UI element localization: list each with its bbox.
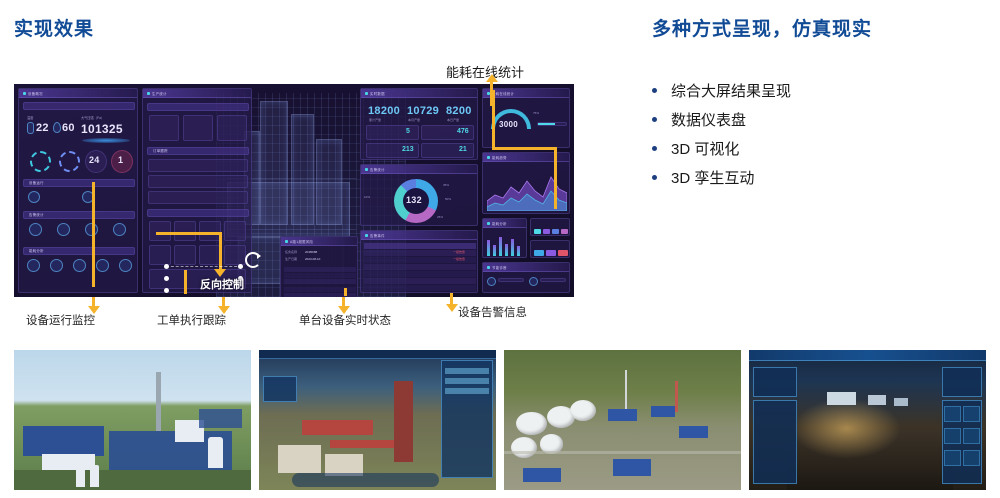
panel-device-overview: 设备概况 温度 大气压强（Pa） 22 60 101325 24 1 设备运行 bbox=[18, 88, 138, 293]
annotation-device-realtime: 单台设备实时状态 bbox=[299, 312, 391, 328]
panel-header: 节能诊断 bbox=[483, 263, 569, 272]
device-grid-cell[interactable] bbox=[174, 245, 196, 265]
list-item: 综合大屏结果呈现 bbox=[652, 76, 982, 105]
bullet-dot-icon bbox=[652, 88, 657, 93]
panel-alarm-distribution: 告警统计 132 35% 50% 25% 10% bbox=[360, 164, 478, 226]
pressure-underglow bbox=[82, 138, 130, 143]
legend-chip bbox=[543, 229, 550, 234]
panel-title: 能耗在线统计 bbox=[492, 91, 514, 96]
table-header-row bbox=[364, 243, 476, 249]
silo-shape bbox=[76, 465, 85, 487]
annotation-arrow-stem bbox=[219, 232, 222, 270]
gauge-value: 3000 bbox=[499, 120, 518, 129]
panel-subheader bbox=[147, 209, 249, 217]
panel-header: 告警统计 bbox=[361, 165, 477, 174]
bar bbox=[505, 244, 508, 256]
bar bbox=[511, 239, 514, 256]
twin-grid-cell[interactable] bbox=[963, 428, 980, 444]
photo-refinery-aerial bbox=[504, 350, 741, 490]
workorder-card[interactable] bbox=[217, 115, 247, 141]
device-grid-cell[interactable] bbox=[199, 245, 221, 265]
kpi-label: 累计产量 bbox=[369, 118, 381, 122]
panel-marker-icon bbox=[365, 234, 368, 237]
silo-shape bbox=[208, 437, 222, 468]
panel-diagnostics: 节能诊断 bbox=[482, 262, 570, 293]
energy-metric-icon bbox=[27, 259, 40, 272]
panel-title: 告警事件 bbox=[370, 233, 385, 238]
annotation-arrow-stem bbox=[492, 147, 557, 150]
energy-metric-icon bbox=[50, 259, 63, 272]
table-row bbox=[284, 273, 356, 278]
alarm-level-value: 一级告警 bbox=[453, 257, 465, 261]
annotation-arrow-stem bbox=[344, 288, 347, 296]
stat-cell-value: 476 bbox=[457, 128, 469, 135]
panel-energy-legend bbox=[530, 218, 570, 236]
refresh-icon[interactable] bbox=[245, 252, 261, 268]
process-unit bbox=[679, 426, 707, 439]
warehouse-glow bbox=[792, 398, 901, 460]
env-subpanel bbox=[23, 102, 135, 110]
panel-header: 告警事件 bbox=[361, 231, 477, 240]
popup-field-key: 任务名称 bbox=[285, 250, 297, 254]
gauge-ring-icon bbox=[59, 151, 80, 172]
stat-cell-value: 21 bbox=[459, 146, 467, 153]
twin-top-bar bbox=[259, 350, 496, 359]
alarm-metric-icon bbox=[57, 223, 70, 236]
hinge-dot bbox=[238, 264, 243, 269]
donut-slice-percent: 50% bbox=[445, 197, 451, 201]
bar bbox=[487, 240, 490, 256]
panel-header: 设备概况 bbox=[19, 89, 137, 98]
photo-digital-twin-cement-plant bbox=[259, 350, 496, 490]
twin-panel-row bbox=[445, 388, 489, 394]
stat-cell bbox=[366, 125, 419, 140]
window-shape bbox=[868, 395, 887, 405]
bar bbox=[499, 237, 502, 256]
alarm-level-value: 一级告警 bbox=[453, 250, 465, 254]
panel-marker-icon bbox=[365, 168, 368, 171]
twin-panel-row bbox=[445, 378, 489, 384]
panel-marker-icon bbox=[23, 92, 26, 95]
page-title-left: 实现效果 bbox=[14, 14, 94, 41]
device-grid-cell[interactable] bbox=[224, 221, 246, 241]
twin-grid-cell[interactable] bbox=[963, 450, 980, 466]
panel-marker-icon bbox=[487, 266, 490, 269]
twin-grid-cell[interactable] bbox=[944, 406, 961, 422]
list-item: 3D 可视化 bbox=[652, 134, 982, 163]
diagnostic-icon bbox=[487, 277, 496, 286]
energy-metric-icon bbox=[119, 259, 132, 272]
panel-title: 能耗趋势 bbox=[492, 155, 507, 160]
twin-left-card[interactable] bbox=[753, 367, 797, 397]
factory-roof bbox=[302, 420, 373, 435]
list-item-label: 数据仪表盘 bbox=[671, 109, 746, 130]
panel-marker-icon bbox=[147, 92, 150, 95]
kpi-label: 本日产量 bbox=[447, 118, 459, 122]
annotation-arrow-stem bbox=[554, 147, 557, 209]
dashboard-screenshot: 设备概况 温度 大气压强（Pa） 22 60 101325 24 1 设备运行 bbox=[14, 84, 574, 297]
list-item: 3D 孪生互动 bbox=[652, 163, 982, 192]
dashboard-canvas: 设备概况 温度 大气压强（Pa） 22 60 101325 24 1 设备运行 bbox=[14, 84, 574, 297]
table-row[interactable] bbox=[364, 264, 476, 270]
panel-energy-bars: 能耗分析 bbox=[482, 218, 527, 258]
panel-title: 设备运行 bbox=[29, 180, 44, 185]
bar bbox=[493, 245, 496, 256]
photo-indoor-digital-twin bbox=[749, 350, 986, 490]
twin-right-card[interactable] bbox=[942, 367, 982, 397]
device-grid-cell[interactable] bbox=[224, 245, 246, 265]
env-humidity-value: 60 bbox=[62, 122, 75, 134]
twin-grid-cell[interactable] bbox=[944, 450, 961, 466]
annotation-alarm-info: 设备告警信息 bbox=[458, 304, 527, 320]
popup-header: A路1超限风险 bbox=[281, 237, 357, 246]
table-row[interactable] bbox=[364, 278, 476, 284]
hinge-dot bbox=[164, 264, 169, 269]
panel-marker-icon bbox=[285, 240, 288, 243]
twin-left-list[interactable] bbox=[753, 400, 797, 484]
callout-arrow-stem bbox=[490, 80, 493, 106]
factory-building bbox=[278, 445, 321, 473]
panel-header: 生产统计 bbox=[143, 89, 251, 98]
panel-energy-online: 能耗在线统计 3000 75% bbox=[482, 88, 570, 148]
diagnostic-row[interactable] bbox=[540, 278, 566, 282]
workorder-row[interactable] bbox=[148, 159, 248, 172]
heat-chip bbox=[534, 250, 544, 256]
panel-title: 订单跟踪 bbox=[153, 148, 168, 153]
device-grid-cell[interactable] bbox=[174, 221, 196, 241]
flare-stack bbox=[625, 370, 627, 409]
thermometer-icon bbox=[27, 122, 34, 134]
annotation-arrow-stem bbox=[156, 232, 222, 235]
panel-header: 实时数据 bbox=[361, 89, 477, 98]
panel-alarm-events: 告警事件 一级告警 一级告警 bbox=[360, 230, 478, 293]
panel-header: 能耗在线统计 bbox=[483, 89, 569, 98]
count-b-value: 1 bbox=[118, 155, 123, 165]
panel-title: 告警统计 bbox=[29, 212, 44, 217]
workorder-card[interactable] bbox=[183, 115, 213, 141]
process-unit bbox=[613, 459, 651, 476]
panel-title: 告警统计 bbox=[370, 167, 385, 172]
hinge-dot bbox=[164, 276, 169, 281]
kpi-value: 18200 bbox=[368, 105, 400, 117]
gallery-strip bbox=[14, 350, 986, 490]
process-unit bbox=[651, 406, 675, 417]
bar-chart bbox=[486, 232, 525, 256]
twin-grid-cell[interactable] bbox=[944, 428, 961, 444]
hinge-dot bbox=[164, 288, 169, 293]
humidity-icon bbox=[53, 122, 61, 133]
workorder-row[interactable] bbox=[148, 191, 248, 204]
annotation-workorder-tracking: 工单执行跟踪 bbox=[157, 312, 226, 328]
table-row bbox=[284, 267, 356, 272]
bullet-dot-icon bbox=[652, 175, 657, 180]
legend-chip bbox=[561, 229, 568, 234]
panel-production-stats: 实时数据 18200 10729 8200 累计产量 本月产量 本日产量 5 4… bbox=[360, 88, 478, 160]
panel-marker-icon bbox=[365, 92, 368, 95]
device-status-icon bbox=[28, 191, 40, 203]
chimney-shape bbox=[156, 372, 161, 431]
plant-block bbox=[199, 409, 242, 429]
panel-subheader bbox=[147, 103, 249, 111]
kpi-value: 8200 bbox=[446, 105, 472, 117]
factory-roof bbox=[330, 440, 396, 448]
alarm-metric-icon bbox=[29, 223, 42, 236]
energy-metric-icon bbox=[73, 259, 86, 272]
storage-tank bbox=[516, 412, 547, 436]
table-row bbox=[284, 279, 356, 284]
twin-top-nav[interactable] bbox=[749, 350, 986, 361]
progress-bar-track bbox=[537, 122, 567, 126]
panel-title: 实时数据 bbox=[370, 91, 385, 96]
panel-energy-heat bbox=[530, 240, 570, 258]
panel-workorder: 生产统计 订单跟踪 bbox=[142, 88, 252, 293]
popup-field-value: 2048D88 bbox=[305, 250, 317, 254]
window-shape bbox=[827, 392, 855, 405]
annotation-arrow-stem bbox=[92, 182, 95, 287]
env-pressure-label: 大气压强（Pa） bbox=[81, 115, 104, 120]
twin-grid-cell[interactable] bbox=[963, 406, 980, 422]
panel-title: 生产统计 bbox=[152, 91, 167, 96]
page-title-right: 多种方式呈现，仿真现实 bbox=[652, 14, 872, 41]
diagnostic-icon bbox=[529, 277, 538, 286]
bar bbox=[517, 246, 520, 256]
count-a-value: 24 bbox=[89, 155, 100, 165]
hinge-line bbox=[166, 266, 242, 267]
donut-slice-percent: 25% bbox=[437, 215, 443, 219]
progress-bar-fill bbox=[538, 123, 555, 125]
ground-shape bbox=[14, 470, 251, 490]
donut-slice-percent: 35% bbox=[443, 183, 449, 187]
bullet-dot-icon bbox=[652, 117, 657, 122]
process-unit bbox=[608, 409, 636, 422]
device-grid-cell[interactable] bbox=[199, 221, 221, 241]
env-temperature-value: 22 bbox=[36, 122, 49, 134]
silo-shape bbox=[90, 465, 99, 487]
photo-3d-plant-daylight bbox=[14, 350, 251, 490]
device-grid-cell[interactable] bbox=[149, 221, 171, 241]
twin-bottom-toolbar[interactable] bbox=[292, 473, 439, 487]
gauge-max-label: 75% bbox=[533, 111, 539, 115]
legend-chip bbox=[552, 229, 559, 234]
list-item-label: 3D 可视化 bbox=[671, 138, 739, 159]
stat-cell-value: 213 bbox=[402, 146, 414, 153]
device-grid-cell[interactable] bbox=[149, 245, 171, 265]
env-temp-label: 温度 bbox=[27, 115, 33, 120]
popup-field-key: 生产日期 bbox=[285, 257, 297, 261]
panel-marker-icon bbox=[487, 222, 490, 225]
env-pressure-value: 101325 bbox=[81, 122, 123, 136]
stat-cell-value: 5 bbox=[406, 128, 410, 135]
storage-tank bbox=[570, 400, 596, 421]
donut-center-value: 132 bbox=[406, 195, 422, 205]
heat-chip bbox=[546, 250, 556, 256]
annotation-device-monitor: 设备运行监控 bbox=[26, 312, 95, 328]
bullet-dot-icon bbox=[652, 146, 657, 151]
window-shape bbox=[894, 398, 908, 406]
bottom-arrow-head bbox=[446, 304, 458, 312]
panel-title: 节能诊断 bbox=[492, 265, 507, 270]
panel-title: 设备概况 bbox=[28, 91, 43, 96]
flare-stack bbox=[675, 381, 678, 412]
panel-header: 能耗分析 bbox=[483, 219, 526, 228]
kpi-label: 本月产量 bbox=[408, 118, 420, 122]
energy-metric-icon bbox=[96, 259, 109, 272]
panel-title: 能耗分析 bbox=[492, 221, 507, 226]
feature-bullet-list: 综合大屏结果呈现 数据仪表盘 3D 可视化 3D 孪生互动 bbox=[652, 76, 982, 192]
list-item-label: 3D 孪生互动 bbox=[671, 167, 754, 188]
gauge-ring-icon bbox=[30, 151, 51, 172]
popup-title: A路1超限风险 bbox=[290, 239, 313, 244]
legend-chip bbox=[534, 229, 541, 234]
list-item: 数据仪表盘 bbox=[652, 105, 982, 134]
twin-panel-row bbox=[445, 368, 489, 374]
kpi-value: 10729 bbox=[407, 105, 439, 117]
table-row[interactable] bbox=[364, 285, 476, 291]
callout-arrow-head bbox=[486, 74, 498, 82]
panel-marker-icon bbox=[487, 156, 490, 159]
annotation-arrow-stem bbox=[184, 270, 187, 294]
list-item-label: 综合大屏结果呈现 bbox=[671, 80, 791, 101]
cement-tower bbox=[394, 381, 413, 462]
reverse-control-label: 反向控制 bbox=[200, 276, 244, 292]
table-row[interactable] bbox=[364, 271, 476, 277]
alarm-metric-icon bbox=[113, 223, 126, 236]
heat-chip bbox=[558, 250, 568, 256]
workorder-row[interactable] bbox=[148, 175, 248, 188]
road-shape bbox=[504, 451, 741, 454]
diagnostic-row[interactable] bbox=[498, 278, 524, 282]
process-unit bbox=[523, 468, 561, 482]
workorder-card[interactable] bbox=[149, 115, 179, 141]
panel-title: 能耗分析 bbox=[29, 248, 44, 253]
plant-block bbox=[23, 426, 104, 457]
donut-slice-percent: 10% bbox=[364, 195, 370, 199]
twin-left-panel[interactable] bbox=[263, 376, 297, 402]
popup-field-value: 2023-08-10 bbox=[305, 257, 320, 261]
storage-tank bbox=[511, 437, 537, 458]
